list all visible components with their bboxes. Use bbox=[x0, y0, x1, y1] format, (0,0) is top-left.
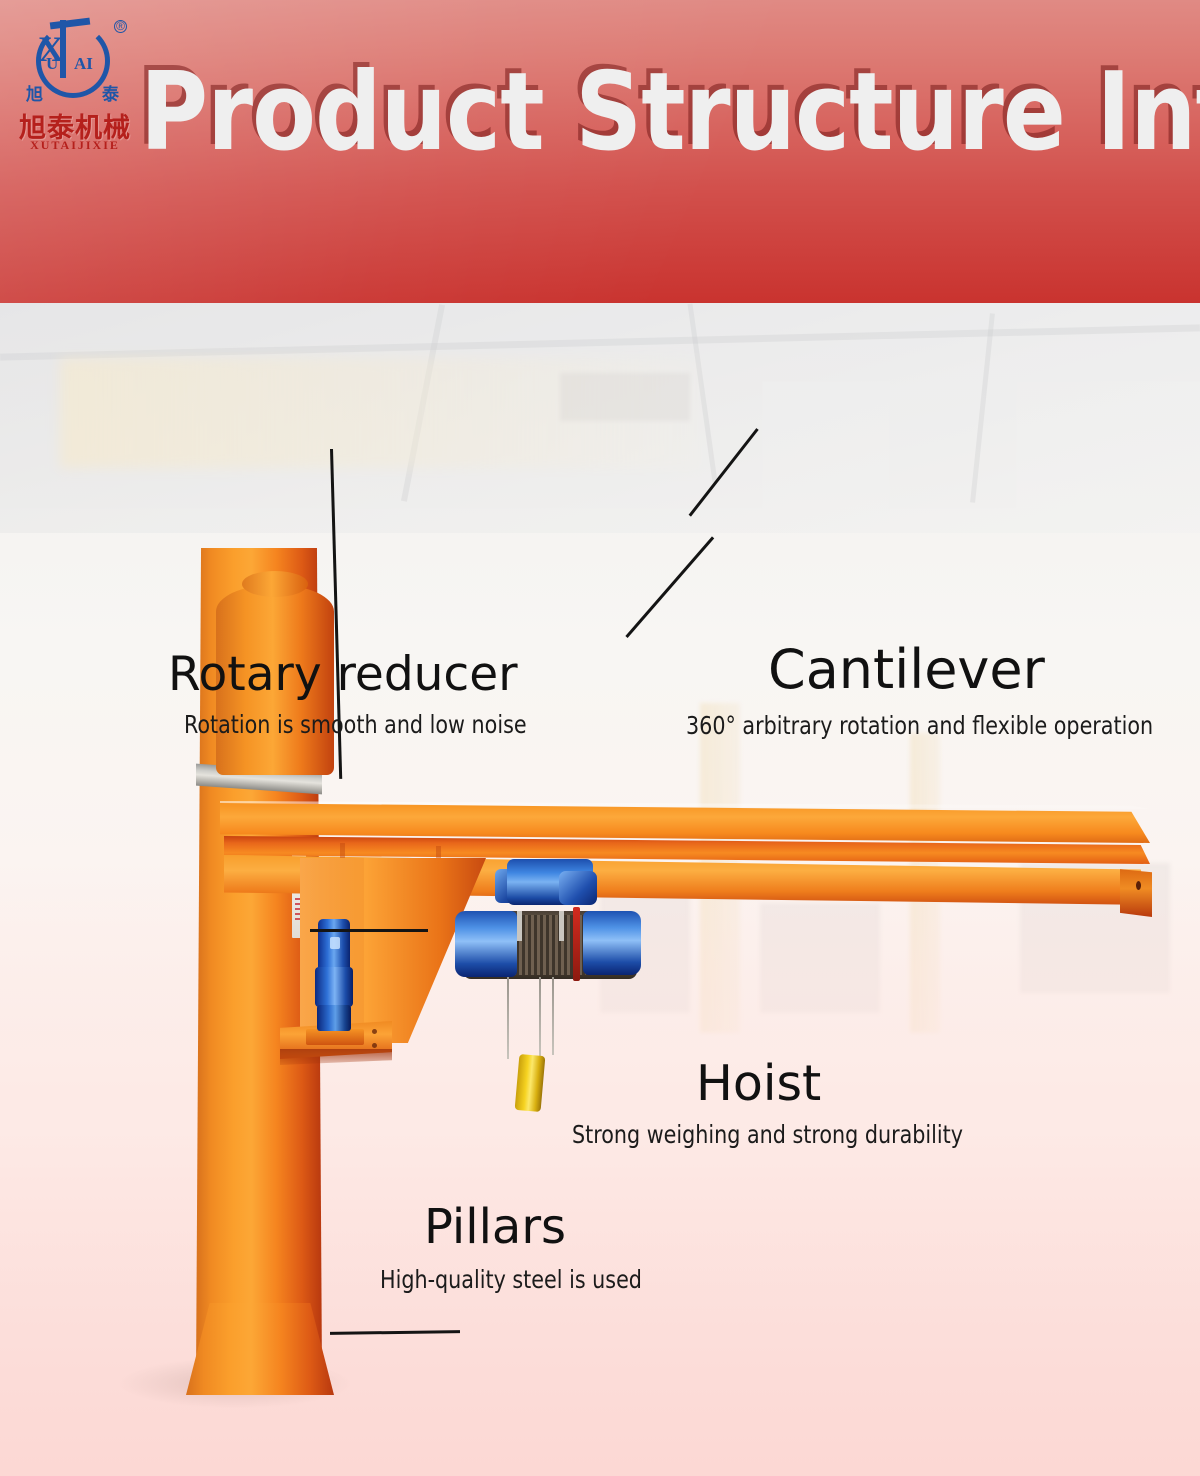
lifting-hook-icon bbox=[524, 1104, 542, 1126]
bracket-shadow bbox=[280, 1049, 392, 1065]
leader-line-base bbox=[330, 1330, 460, 1335]
header-banner: X U AI 旭 泰 ® 旭泰机械 XUTAIJIXIE Product Str… bbox=[0, 0, 1200, 303]
jib-crane-product bbox=[0, 303, 1200, 1476]
annotation-cantilever: Cantilever 360° arbitrary rotation and f… bbox=[686, 643, 1194, 738]
hoist-red-guide bbox=[573, 907, 580, 981]
reducer-gearbox bbox=[315, 967, 353, 1007]
annotation-title-rotary-reducer: Rotary reducer bbox=[168, 651, 556, 698]
annotation-subtitle-pillars: High-quality steel is used bbox=[380, 1267, 642, 1292]
slew-bearing-cap bbox=[242, 571, 308, 597]
hoist-rope bbox=[539, 977, 541, 1057]
logo-t-stem-icon bbox=[60, 20, 66, 78]
hoist-rope bbox=[552, 977, 554, 1055]
hoist-rope bbox=[507, 977, 509, 1059]
cantilever-end-cap bbox=[1120, 865, 1152, 917]
leader-line-pillars bbox=[310, 929, 428, 932]
annotation-subtitle-hoist: Strong weighing and strong durability bbox=[572, 1122, 963, 1147]
annotation-subtitle-rotary-reducer: Rotation is smooth and low noise bbox=[184, 712, 527, 737]
hoist-endcap-left bbox=[455, 911, 517, 977]
leader-line-hoist bbox=[625, 536, 714, 638]
logo-cn-char-left: 旭 bbox=[26, 80, 43, 105]
registered-trademark-icon: ® bbox=[114, 20, 127, 33]
hoist-clamp bbox=[559, 911, 564, 941]
infographic-page: X U AI 旭 泰 ® 旭泰机械 XUTAIJIXIE Product Str… bbox=[0, 0, 1200, 1476]
annotation-rotary-reducer: Rotary reducer Rotation is smooth and lo… bbox=[168, 651, 556, 737]
hoist-clamp bbox=[517, 911, 522, 941]
logo-emblem-icon: X U AI 旭 泰 ® bbox=[30, 18, 122, 106]
cantilever-end-hole bbox=[1136, 881, 1141, 890]
cantilever-top-flange bbox=[220, 803, 1150, 843]
annotation-title-pillars: Pillars bbox=[424, 1203, 665, 1251]
annotation-subtitle-cantilever: 360° arbitrary rotation and flexible ope… bbox=[686, 713, 1153, 738]
rotary-reducer-motor bbox=[314, 919, 354, 1037]
annotation-hoist: Hoist Strong weighing and strong durabil… bbox=[572, 1059, 997, 1147]
bracket-bolt bbox=[372, 1029, 377, 1034]
trolley-motor-right bbox=[559, 871, 597, 905]
logo-cn-char-right: 泰 bbox=[102, 80, 119, 105]
annotation-title-hoist: Hoist bbox=[696, 1059, 997, 1108]
logo-letter-u: U bbox=[46, 54, 58, 74]
reducer-base bbox=[317, 1005, 351, 1031]
logo-letters-ai: AI bbox=[74, 54, 93, 74]
product-photo-area: Rotary reducer Rotation is smooth and lo… bbox=[0, 303, 1200, 1476]
bracket-bolt bbox=[372, 1043, 377, 1048]
annotation-title-cantilever: Cantilever bbox=[768, 643, 1194, 697]
crane-pillar-lower bbox=[186, 1303, 334, 1395]
hoist-endcap-right bbox=[583, 911, 641, 975]
page-title: Product Structure Introduction bbox=[140, 54, 1052, 184]
reducer-highlight bbox=[330, 937, 340, 949]
annotation-pillars: Pillars High-quality steel is used bbox=[380, 1203, 665, 1292]
company-logo: X U AI 旭 泰 ® 旭泰机械 XUTAIJIXIE bbox=[14, 18, 136, 158]
company-name-pinyin: XUTAIJIXIE bbox=[14, 138, 136, 153]
hook-block bbox=[515, 1054, 546, 1112]
